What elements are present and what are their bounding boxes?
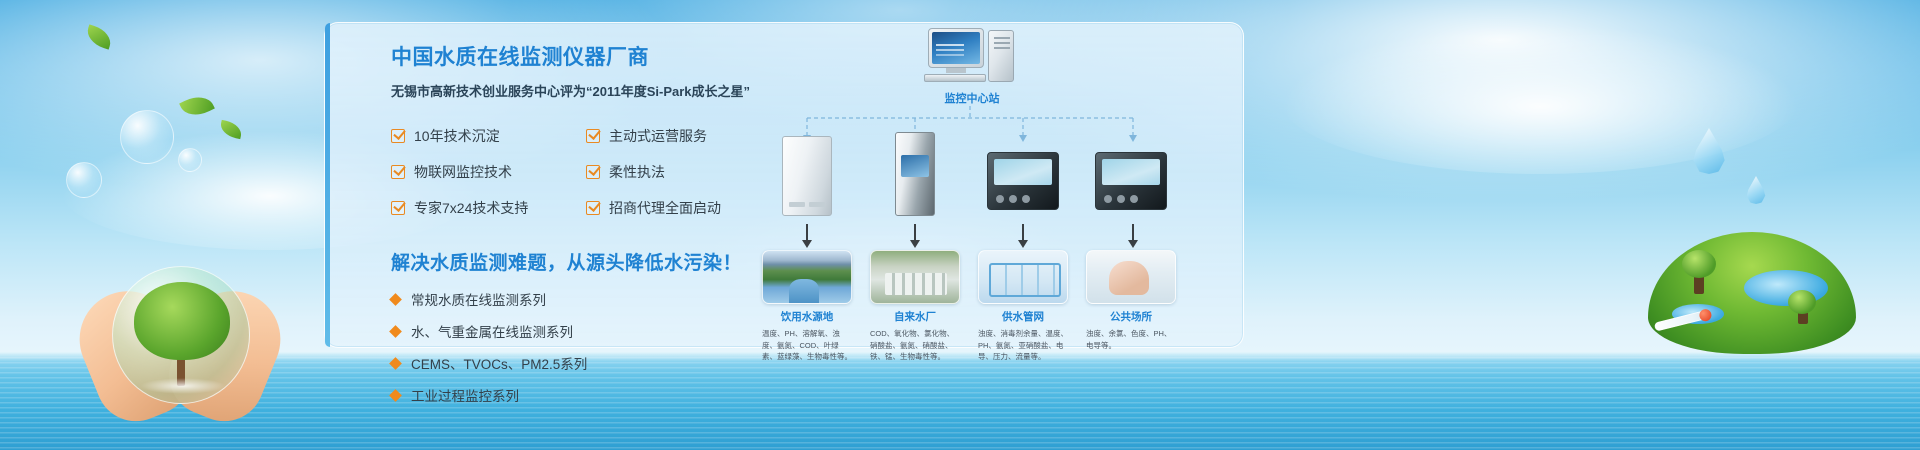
text-block: 中国水质在线监测仪器厂商 无锡市高新技术创业服务中心评为“2011年度Si-Pa… (391, 45, 811, 417)
checklist-item[interactable]: 主动式运营服务 (586, 126, 781, 146)
checklist-item[interactable]: 物联网监控技术 (391, 162, 586, 182)
monitor-screen (932, 32, 980, 64)
card-accent-bar (325, 23, 330, 347)
globe-tree-crown (1682, 250, 1716, 278)
monitor-icon (928, 28, 984, 68)
analyzer-button (1130, 195, 1138, 203)
device-analyzer-1 (980, 130, 1066, 210)
product-series-list: 常规水质在线监测系列 水、气重金属在线监测系列 CEMS、TVOCs、PM2.5… (391, 289, 811, 405)
keyboard-icon (924, 74, 986, 82)
checklist-item[interactable]: 招商代理全面启动 (586, 198, 781, 218)
device-cabinet-dark (872, 130, 958, 216)
checklist-label: 柔性执法 (609, 162, 665, 182)
list-item[interactable]: 工业过程监控系列 (391, 385, 811, 405)
checkbox-checked-icon (391, 201, 405, 215)
analyzer-icon (987, 152, 1059, 210)
checklist-label: 10年技术沉淀 (414, 126, 500, 146)
diamond-bullet-icon (389, 357, 402, 370)
page-title: 中国水质在线监测仪器厂商 (391, 45, 811, 70)
analyzer-screen (1102, 159, 1160, 185)
down-arrow-icon (1132, 224, 1134, 244)
analyzer-button (1104, 195, 1112, 203)
white-cabinet-icon (782, 136, 832, 216)
globe-tree-crown (1788, 290, 1816, 314)
scenario-title: 供水管网 (978, 309, 1068, 324)
checkbox-checked-icon (391, 165, 405, 179)
checklist-label: 物联网监控技术 (414, 162, 512, 182)
device-cabinet-white (764, 130, 850, 216)
down-arrow-icon (1022, 224, 1024, 244)
scenario-title: 自来水厂 (870, 309, 960, 324)
list-item-label: 工业过程监控系列 (411, 385, 519, 405)
scenario-description: 浊度、消毒剂余量、温度、PH、氨氮、亚硝酸盐、电导、压力、流量等。 (978, 328, 1068, 363)
checkbox-checked-icon (586, 165, 600, 179)
diamond-bullet-icon (389, 325, 402, 338)
tree-crown (134, 282, 230, 360)
down-arrow-icon (914, 224, 916, 244)
monitor-stand (946, 68, 966, 73)
banner-stage: 中国水质在线监测仪器厂商 无锡市高新技术创业服务中心评为“2011年度Si-Pa… (0, 0, 1920, 450)
scenario-photo-row: 饮用水源地 温度、PH、溶解氧、浊度、氨氮、COD、叶绿素、蓝绿藻、生物毒性等。… (760, 250, 1180, 426)
bubble-shape (66, 162, 102, 198)
photo-pipe-network (978, 250, 1068, 304)
device-analyzer-2 (1088, 130, 1174, 210)
list-item[interactable]: 水、气重金属在线监测系列 (391, 321, 811, 341)
analyzer-button (996, 195, 1004, 203)
monitoring-center-computer (928, 28, 1016, 86)
checklist-item[interactable]: 10年技术沉淀 (391, 126, 586, 146)
checklist-label: 招商代理全面启动 (609, 198, 721, 218)
analyzer-button (1022, 195, 1030, 203)
scenario-description: COD、氧化物、氯化物、硝酸盐、氨氮、硝酸盐、铁、锰、生物毒性等。 (870, 328, 960, 363)
checklist-item[interactable]: 柔性执法 (586, 162, 781, 182)
list-item[interactable]: 常规水质在线监测系列 (391, 289, 811, 309)
diamond-bullet-icon (389, 389, 402, 402)
hands-plant-decoration (60, 100, 360, 450)
list-item-label: 常规水质在线监测系列 (411, 289, 546, 309)
down-arrow-row (760, 224, 1180, 250)
photo-public-place (1086, 250, 1176, 304)
system-diagram: 监控中心站 (760, 18, 1180, 426)
photo-drinking-water-source (762, 250, 852, 304)
down-arrow-icon (806, 224, 808, 244)
checkbox-checked-icon (391, 129, 405, 143)
bubble-shape (178, 148, 202, 172)
analyzer-button (1117, 195, 1125, 203)
list-item-label: CEMS、TVOCs、PM2.5系列 (411, 353, 587, 373)
feature-checklist: 10年技术沉淀 主动式运营服务 物联网监控技术 柔性执法 专家7x24技术支持 (391, 126, 781, 234)
section-heading: 解决水质监测难题，从源头降低水污染！ (391, 248, 811, 275)
leaf-icon (219, 120, 244, 139)
checkbox-checked-icon (586, 129, 600, 143)
dark-cabinet-icon (895, 132, 935, 216)
photo-water-plant (870, 250, 960, 304)
water-ripple (140, 378, 226, 394)
scenario-column[interactable]: 供水管网 浊度、消毒剂余量、温度、PH、氨氮、亚硝酸盐、电导、压力、流量等。 (978, 250, 1068, 363)
diamond-bullet-icon (389, 293, 402, 306)
scenario-description: 温度、PH、溶解氧、浊度、氨氮、COD、叶绿素、蓝绿藻、生物毒性等。 (762, 328, 852, 363)
analyzer-button (1009, 195, 1017, 203)
checklist-item[interactable]: 专家7x24技术支持 (391, 198, 586, 218)
analyzer-screen (994, 159, 1052, 185)
list-item-label: 水、气重金属在线监测系列 (411, 321, 573, 341)
checklist-label: 主动式运营服务 (609, 126, 707, 146)
checkbox-checked-icon (586, 201, 600, 215)
scenario-column[interactable]: 公共场所 浊度、余氯、色度、PH、电导等。 (1086, 250, 1176, 351)
analyzer-buttons (996, 195, 1030, 203)
list-item[interactable]: CEMS、TVOCs、PM2.5系列 (391, 353, 811, 373)
bubble-shape (120, 110, 174, 164)
analyzer-icon (1095, 152, 1167, 210)
analyzer-buttons (1104, 195, 1138, 203)
scenario-column[interactable]: 自来水厂 COD、氧化物、氯化物、硝酸盐、氨氮、硝酸盐、铁、锰、生物毒性等。 (870, 250, 960, 363)
checklist-label: 专家7x24技术支持 (414, 198, 528, 218)
hands-holding-globe (82, 238, 278, 434)
pc-tower-icon (988, 30, 1014, 82)
scenario-title: 公共场所 (1086, 309, 1176, 324)
page-subtitle: 无锡市高新技术创业服务中心评为“2011年度Si-Park成长之星” (391, 81, 811, 100)
scenario-description: 浊度、余氯、色度、PH、电导等。 (1086, 328, 1176, 351)
device-row (760, 130, 1180, 230)
scenario-title: 饮用水源地 (762, 309, 852, 324)
scenario-column[interactable]: 饮用水源地 温度、PH、溶解氧、浊度、氨氮、COD、叶绿素、蓝绿藻、生物毒性等。 (762, 250, 852, 363)
